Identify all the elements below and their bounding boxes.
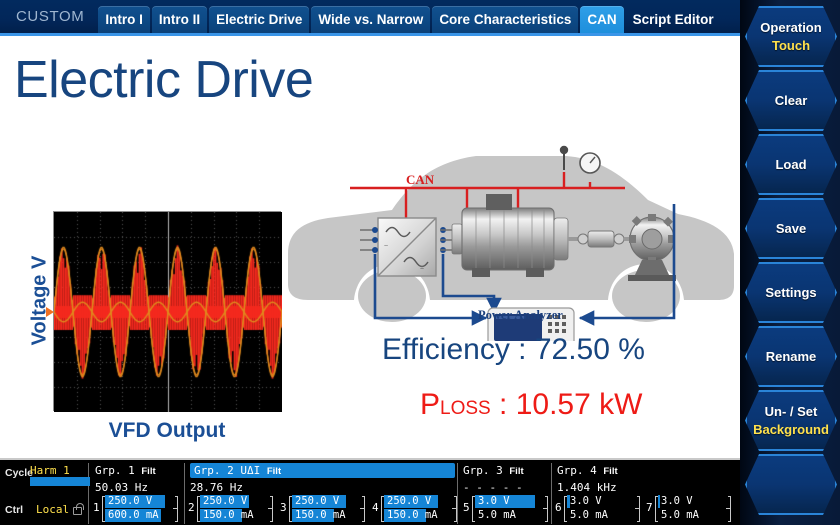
tab-can[interactable]: CAN <box>580 6 623 33</box>
soft-key-settings[interactable]: Settings <box>745 262 837 323</box>
tab-intro-ii[interactable]: Intro II <box>152 6 207 33</box>
voltage-value: 250.0 V <box>203 495 247 508</box>
channel-current-meter: 5.0 mA <box>475 509 543 522</box>
channel-current-meter: 150.0 mA <box>292 509 360 522</box>
cycle-value[interactable]: Harm 1 <box>30 464 70 477</box>
group-name: Grp. 1 <box>95 464 135 477</box>
group-frequency-4: 1.404 kHz <box>557 481 617 494</box>
current-value: 150.0 mA <box>295 509 346 522</box>
group-header-1[interactable]: Grp. 1 Filt <box>95 464 156 477</box>
voltage-bar-fill <box>658 495 660 508</box>
channel-current-meter: 150.0 mA <box>384 509 452 522</box>
channel-meter-7[interactable]: 73.0 V5.0 mA <box>646 494 738 524</box>
lock-icon <box>73 507 82 515</box>
group-filter-label: Filt <box>267 466 281 477</box>
channel-number: 3 <box>280 501 287 514</box>
power-loss-readout: PLOSS : 10.57 kW <box>420 388 642 422</box>
soft-key-label: Load <box>775 157 806 172</box>
channel-bracket-right <box>545 496 548 522</box>
tab-electric-drive[interactable]: Electric Drive <box>209 6 309 33</box>
channel-voltage-meter: 3.0 V <box>658 495 726 508</box>
tab-script-editor[interactable]: Script Editor <box>626 6 721 33</box>
channel-current-meter: 150.0 mA <box>200 509 268 522</box>
tab-bar: CUSTOM Intro IIntro IIElectric DriveWide… <box>0 0 740 33</box>
channel-bracket-right <box>270 496 273 522</box>
ploss-subscript: LOSS <box>440 398 491 419</box>
efficiency-readout: Efficiency : 72.50 % <box>382 333 645 367</box>
channel-voltage-meter: 250.0 V <box>200 495 268 508</box>
ctrl-label: Ctrl <box>5 504 23 516</box>
group-filter-label: Filt <box>141 466 155 477</box>
group-filter-label: Filt <box>603 466 617 477</box>
voltage-value: 3.0 V <box>661 495 693 508</box>
current-value: 5.0 mA <box>570 509 608 522</box>
soft-key-load[interactable]: Load <box>745 134 837 195</box>
voltage-value: 250.0 V <box>108 495 152 508</box>
current-value: 150.0 mA <box>387 509 438 522</box>
channel-number: 4 <box>372 501 379 514</box>
current-value: 150.0 mA <box>203 509 254 522</box>
soft-key-label: Operation <box>760 20 821 35</box>
channel-current-meter: 5.0 mA <box>567 509 635 522</box>
channel-number: 7 <box>646 501 653 514</box>
scope-display <box>53 211 281 411</box>
soft-key-clear[interactable]: Clear <box>745 70 837 131</box>
group-filter-label: Filt <box>509 466 523 477</box>
tab-core-characteristics[interactable]: Core Characteristics <box>432 6 578 33</box>
trigger-marker-icon <box>46 307 54 317</box>
channel-current-meter: 600.0 mA <box>105 509 173 522</box>
cycle-meter <box>30 477 90 486</box>
soft-key-operation[interactable]: OperationTouch <box>745 6 837 67</box>
channel-voltage-meter: 3.0 V <box>567 495 635 508</box>
can-bus-label: CAN <box>406 172 434 188</box>
scope-panel: Voltage V VFD Output <box>18 211 283 458</box>
channel-meter-4[interactable]: 4250.0 V150.0 mA <box>372 494 464 524</box>
channel-rail <box>726 508 730 509</box>
group-name: Grp. 3 <box>463 464 503 477</box>
ploss-value: : 10.57 kW <box>491 388 643 421</box>
group-frequency-1: 50.03 Hz <box>95 481 148 494</box>
tab-wide-vs-narrow[interactable]: Wide vs. Narrow <box>311 6 430 33</box>
group-name: Grp. 4 <box>557 464 597 477</box>
svg-text:~: ~ <box>384 243 388 250</box>
tab-intro-i[interactable]: Intro I <box>98 6 150 33</box>
soft-key-sub-label: Background <box>753 422 829 437</box>
channel-bracket-right <box>362 496 365 522</box>
group-frequency-3: - - - - - <box>463 481 523 494</box>
channel-number: 5 <box>463 501 470 514</box>
channel-meter-3[interactable]: 3250.0 V150.0 mA <box>280 494 372 524</box>
soft-key-un-set[interactable]: Un- / SetBackground <box>745 390 837 451</box>
scope-y-axis-label: Voltage V <box>29 241 52 361</box>
soft-key-label: Un- / Set <box>765 404 818 419</box>
soft-key-save[interactable]: Save <box>745 198 837 259</box>
channel-voltage-meter: 250.0 V <box>384 495 452 508</box>
group-frequency-2: 28.76 Hz <box>190 481 243 494</box>
custom-label: CUSTOM <box>0 8 98 33</box>
channel-rail <box>543 508 547 509</box>
waveform-canvas <box>54 212 282 412</box>
group-header-3[interactable]: Grp. 3 Filt <box>463 464 524 477</box>
group-header-4[interactable]: Grp. 4 Filt <box>557 464 618 477</box>
soft-key-sub-label: Touch <box>772 38 810 53</box>
group-header-2[interactable]: Grp. 2 UΔI Filt <box>190 463 455 478</box>
channel-bracket-right <box>175 496 178 522</box>
status-bar: Cycle Harm 1 Ctrl Local Grp. 1 Filt50.03… <box>0 458 740 525</box>
channel-meter-6[interactable]: 63.0 V5.0 mA <box>555 494 647 524</box>
channel-number: 1 <box>93 501 100 514</box>
ctrl-value[interactable]: Local <box>36 503 69 516</box>
status-divider <box>88 463 89 524</box>
channel-number: 6 <box>555 501 562 514</box>
channel-rail <box>360 508 364 509</box>
soft-key-empty <box>745 454 837 515</box>
main-content: Electric Drive <box>0 33 740 458</box>
channel-meter-1[interactable]: 1250.0 V600.0 mA <box>93 494 185 524</box>
scope-x-axis-label: VFD Output <box>53 419 281 443</box>
group-name: Grp. 2 UΔI <box>194 464 260 477</box>
power-analyzer-label: Power Analyzer <box>478 308 563 323</box>
voltage-value: 3.0 V <box>570 495 602 508</box>
page-title: Electric Drive <box>14 50 313 110</box>
current-value: 5.0 mA <box>661 509 699 522</box>
channel-rail <box>268 508 272 509</box>
svg-text:=: = <box>420 265 424 272</box>
voltage-value: 250.0 V <box>387 495 431 508</box>
soft-key-label: Settings <box>765 285 816 300</box>
soft-key-label: Rename <box>766 349 817 364</box>
channel-rail <box>173 508 177 509</box>
current-value: 600.0 mA <box>108 509 159 522</box>
app-root: CUSTOM Intro IIntro IIElectric DriveWide… <box>0 0 840 525</box>
soft-key-rename[interactable]: Rename <box>745 326 837 387</box>
channel-meter-2[interactable]: 2250.0 V150.0 mA <box>188 494 280 524</box>
current-value: 5.0 mA <box>478 509 516 522</box>
channel-voltage-meter: 250.0 V <box>105 495 173 508</box>
channel-bracket-right <box>637 496 640 522</box>
soft-key-label: Clear <box>775 93 808 108</box>
cycle-label: Cycle <box>5 467 33 479</box>
channel-number: 2 <box>188 501 195 514</box>
channel-bracket-right <box>454 496 457 522</box>
channel-voltage-meter: 250.0 V <box>292 495 360 508</box>
channel-rail <box>452 508 456 509</box>
channel-current-meter: 5.0 mA <box>658 509 726 522</box>
voltage-value: 3.0 V <box>478 495 510 508</box>
ploss-prefix: P <box>420 388 440 421</box>
tab-list: Intro IIntro IIElectric DriveWide vs. Na… <box>98 6 722 33</box>
channel-voltage-meter: 3.0 V <box>475 495 543 508</box>
soft-key-sidebar: OperationTouchClearLoadSaveSettingsRenam… <box>740 0 840 525</box>
soft-key-label: Save <box>776 221 806 236</box>
channel-meter-5[interactable]: 53.0 V5.0 mA <box>463 494 555 524</box>
channel-bracket-right <box>728 496 731 522</box>
voltage-value: 250.0 V <box>295 495 339 508</box>
channel-rail <box>635 508 639 509</box>
